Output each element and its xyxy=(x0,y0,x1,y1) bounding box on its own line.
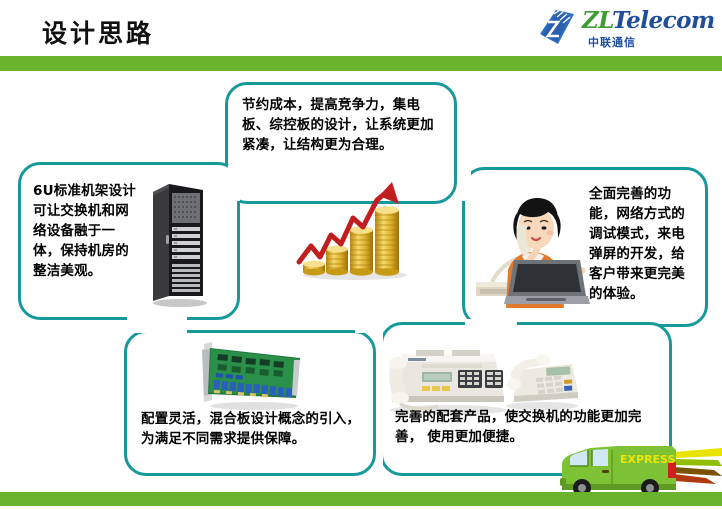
logo-zl-text: ZL xyxy=(582,7,612,34)
brand-logo: ZLTelecom 中联通信 xyxy=(536,6,706,52)
slide-canvas: 设计思路 ZLTelecom 中联通信 节 xyxy=(0,0,722,509)
box-joiner xyxy=(127,317,187,333)
slide-header: 设计思路 ZLTelecom 中联通信 xyxy=(0,0,722,56)
box-joiner xyxy=(355,319,383,333)
callout-flexible-config-text: 配置灵活，混合板设计概念的引入，为满足不同需求提供保障。 xyxy=(141,409,369,449)
callout-cost-savings-text: 节约成本，提高竞争力，集电板、综控板的设计，让系统更加紧凑，让结构更为合理。 xyxy=(242,95,447,155)
footer-green-bar xyxy=(0,492,722,506)
callout-full-features-text: 全面完善的功能，网络方式的调试模式，来电弹屏的开发，给客户带来更完美的体验。 xyxy=(589,184,697,304)
operator-with-laptop-and-phone-image xyxy=(470,186,590,308)
box-joiner xyxy=(377,333,383,473)
green-pcb-circuit-board-image xyxy=(196,340,308,410)
console-phone-and-desk-phone-image xyxy=(386,330,584,416)
logo-telecom-text: Telecom xyxy=(612,7,715,34)
callout-6u-rack-text: 6U标准机架设计可让交换机和网络设备融于一体，保持机房的整洁美观。 xyxy=(33,181,138,281)
logo-wordmark: ZLTelecom xyxy=(582,8,715,34)
box-joiner xyxy=(228,165,240,201)
header-green-bar xyxy=(0,56,722,71)
server-rack-cabinet-image xyxy=(147,180,209,305)
rising-coin-stacks-chart-image xyxy=(293,178,409,282)
page-title: 设计思路 xyxy=(42,14,154,50)
logo-chinese-text: 中联通信 xyxy=(588,34,636,50)
van-express-label: EXPRESS xyxy=(620,453,675,466)
zl-telecom-mark-icon xyxy=(536,8,578,48)
